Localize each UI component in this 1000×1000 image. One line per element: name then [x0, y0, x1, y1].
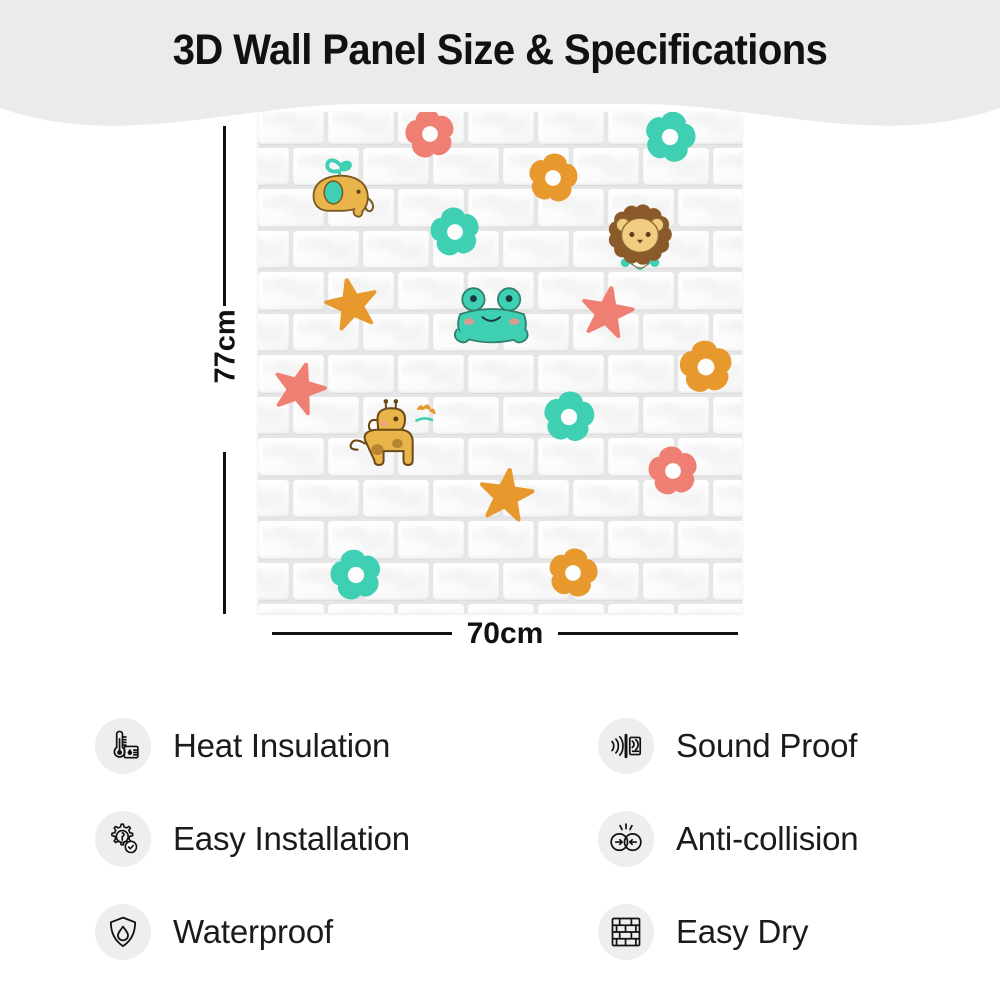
- feature-item-heat-insulation: Heat Insulation: [95, 718, 515, 774]
- brick-tile: [608, 604, 674, 613]
- brick-tile: [398, 604, 464, 613]
- brick-tile: [328, 189, 394, 227]
- brick-tile: [293, 563, 359, 601]
- brick-tile: [713, 148, 742, 186]
- brick-tile: [678, 189, 742, 227]
- brick-tile: [713, 231, 742, 269]
- brick-tile: [573, 314, 639, 352]
- brick-tile: [713, 563, 742, 601]
- brick-tile: [293, 397, 359, 435]
- brick-tile: [258, 521, 324, 559]
- brick-tile: [398, 521, 464, 559]
- brick-tile: [573, 397, 639, 435]
- brick-tile: [538, 189, 604, 227]
- brick-tile: [328, 112, 394, 144]
- brick-tile: [293, 148, 359, 186]
- brick-tile: [608, 355, 674, 393]
- brick-tile: [258, 604, 324, 613]
- brick-tile: [643, 397, 709, 435]
- feature-item-easy-installation: Easy Installation: [95, 811, 515, 867]
- height-dimension-label: 77cm: [210, 324, 243, 384]
- brick-tile: [538, 521, 604, 559]
- wall-panel-image: [258, 112, 742, 613]
- width-dimension-line-left: [272, 632, 452, 635]
- brick-tile: [363, 563, 429, 601]
- brick-tile: [608, 438, 674, 476]
- brick-tile: [293, 480, 359, 518]
- brick-tile: [468, 604, 534, 613]
- feature-label: Anti-collision: [676, 820, 858, 858]
- brick-tile: [468, 438, 534, 476]
- brick-tile: [608, 272, 674, 310]
- width-dimension-label: 70cm: [440, 617, 570, 651]
- brick-tile: [643, 563, 709, 601]
- brick-tile: [538, 604, 604, 613]
- brick-tile: [643, 480, 709, 518]
- feature-list: Heat Insulation Easy Installation Waterp…: [95, 700, 955, 985]
- brick-tile: [468, 272, 534, 310]
- thermometer-icon: [95, 718, 151, 774]
- brick-tile: [713, 480, 742, 518]
- brick-tile: [258, 148, 289, 186]
- feature-item-easy-dry: Easy Dry: [598, 904, 1000, 960]
- brick-tile: [468, 112, 534, 144]
- brick-tile: [258, 112, 324, 144]
- brick-tile: [258, 563, 289, 601]
- brick-tile: [433, 397, 499, 435]
- brick-tile: [503, 397, 569, 435]
- brick-tile: [363, 314, 429, 352]
- brick-tile: [503, 314, 569, 352]
- brick-tile: [538, 112, 604, 144]
- feature-label: Easy Dry: [676, 913, 808, 951]
- brick-tile: [363, 480, 429, 518]
- brick-tile: [328, 438, 394, 476]
- brick-tile: [573, 231, 639, 269]
- height-dimension-line-top: [223, 126, 226, 306]
- brick-tile: [643, 231, 709, 269]
- brick-tile: [258, 272, 324, 310]
- brick-tile: [538, 272, 604, 310]
- gear-wrench-icon: [95, 811, 151, 867]
- feature-label: Heat Insulation: [173, 727, 390, 765]
- brick-tile: [538, 355, 604, 393]
- brick-tile: [433, 480, 499, 518]
- brick-tile: [258, 480, 289, 518]
- feature-label: Waterproof: [173, 913, 333, 951]
- brick-tile: [328, 521, 394, 559]
- brick-tile: [258, 438, 324, 476]
- feature-item-waterproof: Waterproof: [95, 904, 515, 960]
- brick-tile: [608, 189, 674, 227]
- brick-tile: [293, 231, 359, 269]
- brick-tile: [678, 604, 742, 613]
- feature-item-anti-collision: Anti-collision: [598, 811, 1000, 867]
- brick-tile: [503, 480, 569, 518]
- height-dimension-line-bottom: [223, 452, 226, 614]
- brick-tile: [713, 314, 742, 352]
- brick-tile: [293, 314, 359, 352]
- brick-tile: [643, 148, 709, 186]
- brick-tile: [608, 112, 674, 144]
- brick-tile: [433, 231, 499, 269]
- brick-tile: [328, 604, 394, 613]
- brick-tile: [258, 314, 289, 352]
- sound-wave-icon: [598, 718, 654, 774]
- brick-tile: [363, 231, 429, 269]
- brick-tile: [678, 438, 742, 476]
- brick-tile: [258, 189, 324, 227]
- collision-arrows-icon: [598, 811, 654, 867]
- brick-tile: [573, 563, 639, 601]
- brick-tile: [433, 563, 499, 601]
- brick-tile: [608, 521, 674, 559]
- shield-drop-icon: [95, 904, 151, 960]
- brick-tile: [328, 355, 394, 393]
- brick-tile: [433, 314, 499, 352]
- brick-tile: [363, 397, 429, 435]
- brick-tile: [398, 112, 464, 144]
- brick-tile: [678, 272, 742, 310]
- brick-tile: [398, 272, 464, 310]
- brick-tile: [503, 231, 569, 269]
- brick-wall-icon: [598, 904, 654, 960]
- brick-tile: [328, 272, 394, 310]
- brick-tile: [258, 231, 289, 269]
- brick-tile: [398, 355, 464, 393]
- feature-label: Sound Proof: [676, 727, 857, 765]
- brick-tile: [678, 355, 742, 393]
- brick-tile: [468, 355, 534, 393]
- brick-tile: [503, 563, 569, 601]
- brick-pattern: [258, 112, 742, 613]
- brick-tile: [398, 189, 464, 227]
- feature-item-sound-proof: Sound Proof: [598, 718, 1000, 774]
- brick-tile: [643, 314, 709, 352]
- brick-tile: [678, 112, 742, 144]
- brick-tile: [363, 148, 429, 186]
- brick-tile: [573, 480, 639, 518]
- brick-tile: [398, 438, 464, 476]
- brick-tile: [503, 148, 569, 186]
- brick-tile: [538, 438, 604, 476]
- brick-tile: [433, 148, 499, 186]
- width-dimension-line-right: [558, 632, 738, 635]
- feature-label: Easy Installation: [173, 820, 410, 858]
- brick-tile: [468, 189, 534, 227]
- brick-tile: [468, 521, 534, 559]
- brick-tile: [678, 521, 742, 559]
- brick-tile: [573, 148, 639, 186]
- brick-tile: [258, 397, 289, 435]
- brick-tile: [713, 397, 742, 435]
- brick-tile: [258, 355, 324, 393]
